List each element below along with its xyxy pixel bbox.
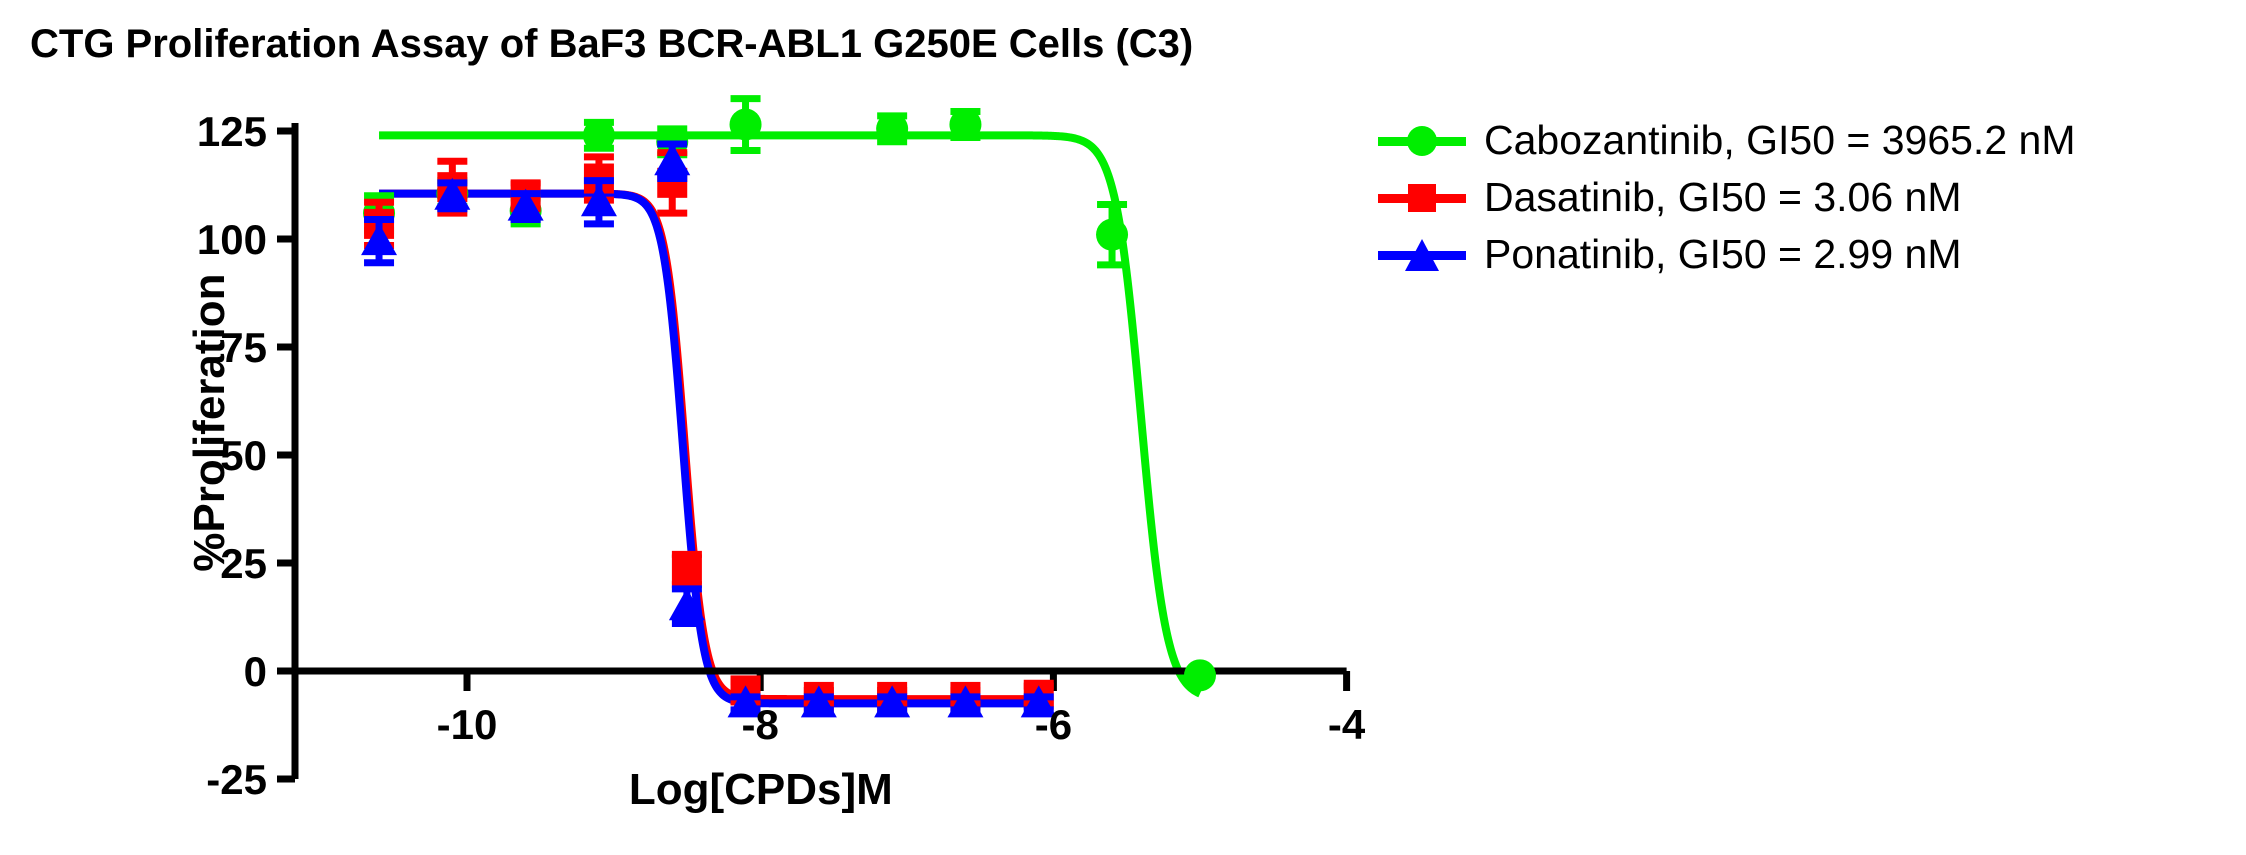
data-point-circle: [949, 109, 981, 141]
y-tick-label: 0: [244, 648, 267, 695]
fit-curve-dasatinib: [379, 194, 1039, 699]
legend-key-triangle-icon: [1378, 235, 1466, 275]
data-point-circle: [1184, 659, 1216, 691]
chart-page: CTG Proliferation Assay of BaF3 BCR-ABL1…: [0, 0, 2246, 855]
y-tick-label: 100: [197, 216, 267, 263]
fit-curve-cabozantinib: [379, 135, 1200, 693]
data-point-square: [672, 554, 702, 584]
legend-marker-circle-icon: [1407, 126, 1437, 156]
curves-layer: [379, 135, 1200, 703]
x-tick-label: -8: [742, 701, 779, 748]
legend-item-dasatinib[interactable]: Dasatinib, GI50 = 3.06 nM: [1378, 169, 2075, 226]
x-tick-label: -4: [1328, 701, 1366, 748]
axis-labels-layer: 1251007550250-25-10-8-6-4%ProliferationL…: [185, 108, 1366, 814]
x-tick-label: -6: [1035, 701, 1072, 748]
y-tick-label: 125: [197, 108, 267, 155]
data-point-circle: [876, 113, 908, 145]
legend-item-ponatinib[interactable]: Ponatinib, GI50 = 2.99 nM: [1378, 226, 2075, 283]
y-tick-label: -25: [206, 756, 267, 803]
x-axis-title: Log[CPDs]M: [629, 765, 893, 814]
x-tick-label: -10: [437, 701, 498, 748]
data-point-circle: [730, 109, 762, 141]
legend-label: Cabozantinib, GI50 = 3965.2 nM: [1466, 120, 2075, 161]
legend-label: Ponatinib, GI50 = 2.99 nM: [1466, 234, 1962, 275]
legend-marker-triangle-icon: [1405, 239, 1439, 271]
y-axis-title: %Proliferation: [185, 273, 234, 571]
legend-key-circle-icon: [1378, 121, 1466, 161]
legend-label: Dasatinib, GI50 = 3.06 nM: [1466, 177, 1961, 218]
legend: Cabozantinib, GI50 = 3965.2 nMDasatinib,…: [1378, 112, 2075, 283]
data-point-circle: [583, 119, 615, 151]
data-point-circle: [1096, 219, 1128, 251]
legend-item-cabozantinib[interactable]: Cabozantinib, GI50 = 3965.2 nM: [1378, 112, 2075, 169]
fit-curve-ponatinib: [379, 194, 1039, 704]
legend-key-square-icon: [1378, 178, 1466, 218]
legend-marker-square-icon: [1408, 184, 1436, 212]
